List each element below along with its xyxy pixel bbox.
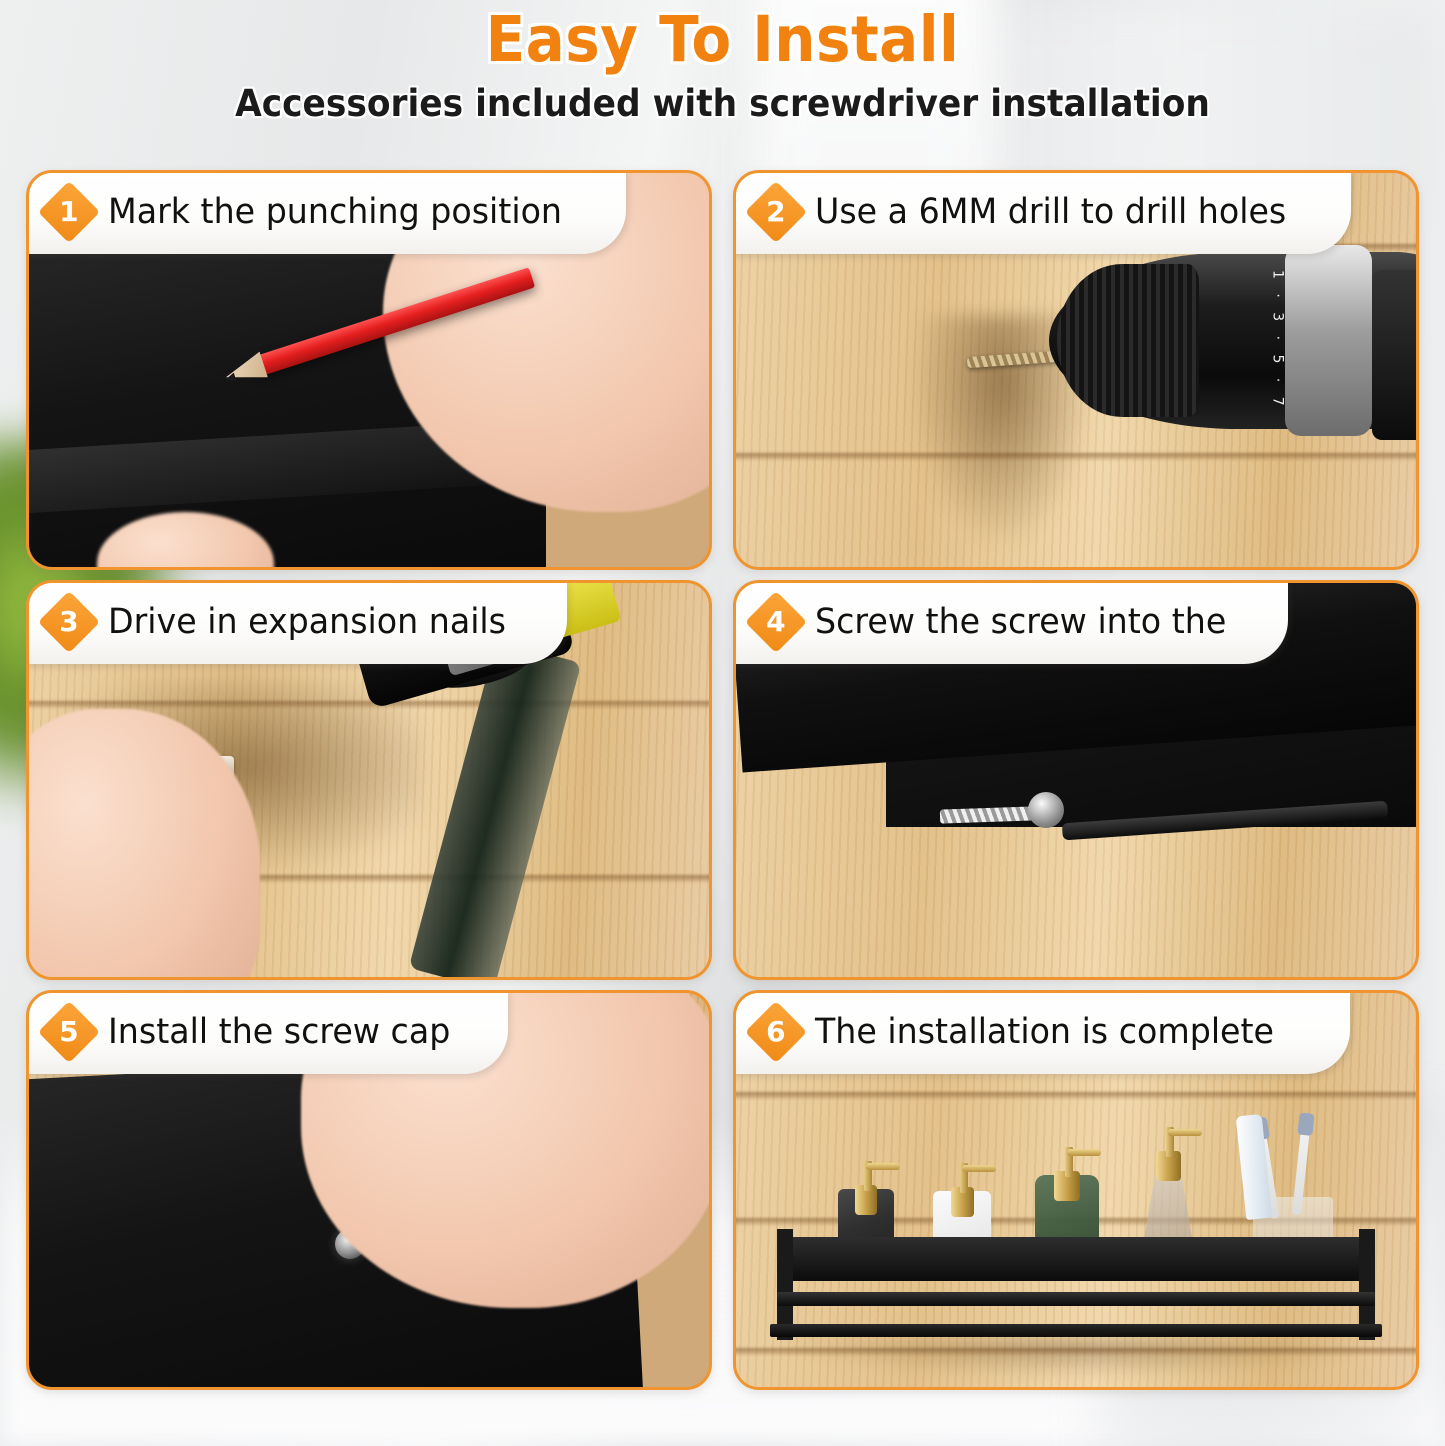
step-number: 6: [766, 1018, 785, 1046]
step-number: 2: [766, 198, 785, 226]
step-number-badge-3: 3: [38, 591, 100, 653]
gold-pump-nozzle: [1168, 1129, 1202, 1136]
step-label-text: The installation is complete: [815, 1012, 1274, 1052]
step-number-badge-1: 1: [38, 181, 100, 243]
toothbrush-head: [1297, 1112, 1314, 1135]
step-5-label: 5 Install the screw cap: [26, 990, 508, 1074]
screw-head: [1028, 792, 1064, 828]
step-number: 4: [766, 608, 785, 636]
header: Easy To Install Accessories included wit…: [0, 0, 1445, 125]
step-panel-2[interactable]: 1 · 3 · 5 · 7 2 Use a 6MM drill to drill…: [733, 170, 1419, 570]
step-number-badge-6: 6: [745, 1001, 807, 1063]
steps-grid: 1 Mark the punching position 1 · 3 · 5 ·…: [26, 170, 1419, 1420]
step-2-label: 2 Use a 6MM drill to drill holes: [733, 170, 1351, 254]
step-panel-4[interactable]: 4 Screw the screw into the: [733, 580, 1419, 980]
page-title: Easy To Install: [58, 0, 1387, 72]
step-label-text: Install the screw cap: [108, 1012, 450, 1052]
shelf-base: [770, 1324, 1382, 1337]
step-panel-6[interactable]: 6 The installation is complete: [733, 990, 1419, 1390]
step-panel-5[interactable]: 5 Install the screw cap: [26, 990, 712, 1390]
step-1-label: 1 Mark the punching position: [26, 170, 626, 254]
step-label-text: Mark the punching position: [108, 192, 562, 232]
page-subtitle: Accessories included with screwdriver in…: [51, 84, 1395, 125]
step-label-text: Screw the screw into the: [815, 602, 1226, 642]
step-label-text: Use a 6MM drill to drill holes: [815, 192, 1286, 232]
step-panel-1[interactable]: 1 Mark the punching position: [26, 170, 712, 570]
step-3-label: 3 Drive in expansion nails: [26, 580, 567, 664]
step-number: 1: [59, 198, 78, 226]
step-number-badge-2: 2: [745, 181, 807, 243]
step-panel-3[interactable]: 3 Drive in expansion nails: [26, 580, 712, 980]
step-6-label: 6 The installation is complete: [733, 990, 1350, 1074]
drill-collar: [1285, 245, 1372, 436]
shelf-rail: [777, 1292, 1375, 1305]
shelf-tray: [777, 1237, 1375, 1280]
drill-chuck: [1057, 264, 1199, 416]
step-number: 3: [59, 608, 78, 636]
drill-housing: [1372, 270, 1416, 440]
gold-pump-nozzle: [1067, 1149, 1101, 1156]
shelf-shadow: [790, 1340, 1361, 1375]
step-number: 5: [59, 1018, 78, 1046]
power-drill: 1 · 3 · 5 · 7: [1049, 252, 1416, 429]
gold-pump-nozzle: [962, 1165, 996, 1172]
step-number-badge-5: 5: [38, 1001, 100, 1063]
install-guide-infographic: Easy To Install Accessories included wit…: [0, 0, 1445, 1446]
step-number-badge-4: 4: [745, 591, 807, 653]
step-4-label: 4 Screw the screw into the: [733, 580, 1288, 664]
drill-torque-label: 1 · 3 · 5 · 7: [1214, 270, 1285, 412]
screw: [940, 806, 1036, 823]
step-label-text: Drive in expansion nails: [108, 602, 506, 642]
gold-pump-nozzle: [866, 1163, 900, 1170]
